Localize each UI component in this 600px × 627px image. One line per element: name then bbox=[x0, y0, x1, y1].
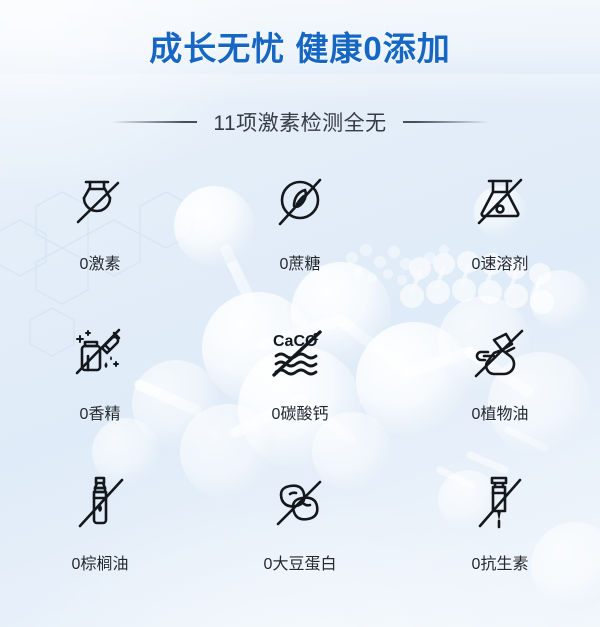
erlenmeyer-flask-slashed-icon bbox=[464, 168, 536, 240]
feature-label: 0碳酸钙 bbox=[272, 400, 329, 424]
dropper-bottle-sparkle-slashed-icon bbox=[64, 318, 136, 390]
vial-syringe-slashed-icon bbox=[464, 468, 536, 540]
feature-label: 0香精 bbox=[80, 400, 121, 424]
feature-label: 0植物油 bbox=[472, 400, 529, 424]
feature-label: 0蔗糖 bbox=[280, 250, 321, 274]
caco3-wave-slashed-icon: CaCO 2 bbox=[264, 318, 336, 390]
header-highlight-band-secondary bbox=[0, 74, 600, 104]
subtitle-rule-left bbox=[111, 121, 197, 123]
flask-round-slashed-icon bbox=[64, 168, 136, 240]
feature-cell-calcium-carbonate: CaCO 2 0碳酸钙 bbox=[200, 310, 400, 460]
oil-bottle-slashed-icon bbox=[64, 468, 136, 540]
feature-cell-palm-oil: 0棕榈油 bbox=[0, 460, 200, 610]
feature-cell-sucrose: 0蔗糖 bbox=[200, 160, 400, 310]
feature-label: 0棕榈油 bbox=[72, 550, 129, 574]
feature-cell-vegetable-oil: 0植物油 bbox=[400, 310, 600, 460]
subtitle-text: 11项激素检测全无 bbox=[213, 107, 386, 137]
feature-cell-fragrance: 0香精 bbox=[0, 310, 200, 460]
oil-jug-slashed-icon bbox=[464, 318, 536, 390]
subtitle-rule-right bbox=[403, 121, 489, 123]
feature-cell-instant-solvent: 0速溶剂 bbox=[400, 160, 600, 310]
feature-cell-soy-protein: 0大豆蛋白 bbox=[200, 460, 400, 610]
feature-label: 0抗生素 bbox=[472, 550, 529, 574]
feature-label: 0大豆蛋白 bbox=[264, 550, 337, 574]
feature-label: 0速溶剂 bbox=[472, 250, 529, 274]
feature-grid: 0激素 0蔗糖 bbox=[0, 160, 600, 610]
soybeans-slashed-icon bbox=[264, 468, 336, 540]
feature-label: 0激素 bbox=[80, 250, 121, 274]
feature-cell-antibiotics: 0抗生素 bbox=[400, 460, 600, 610]
feature-cell-hormone: 0激素 bbox=[0, 160, 200, 310]
subtitle-row: 11项激素检测全无 bbox=[0, 107, 600, 137]
page-title: 成长无忧 健康0添加 bbox=[0, 22, 600, 70]
promo-banner: 成长无忧 健康0添加 11项激素检测全无 0激素 bbox=[0, 0, 600, 627]
sugar-circle-slashed-icon bbox=[264, 168, 336, 240]
